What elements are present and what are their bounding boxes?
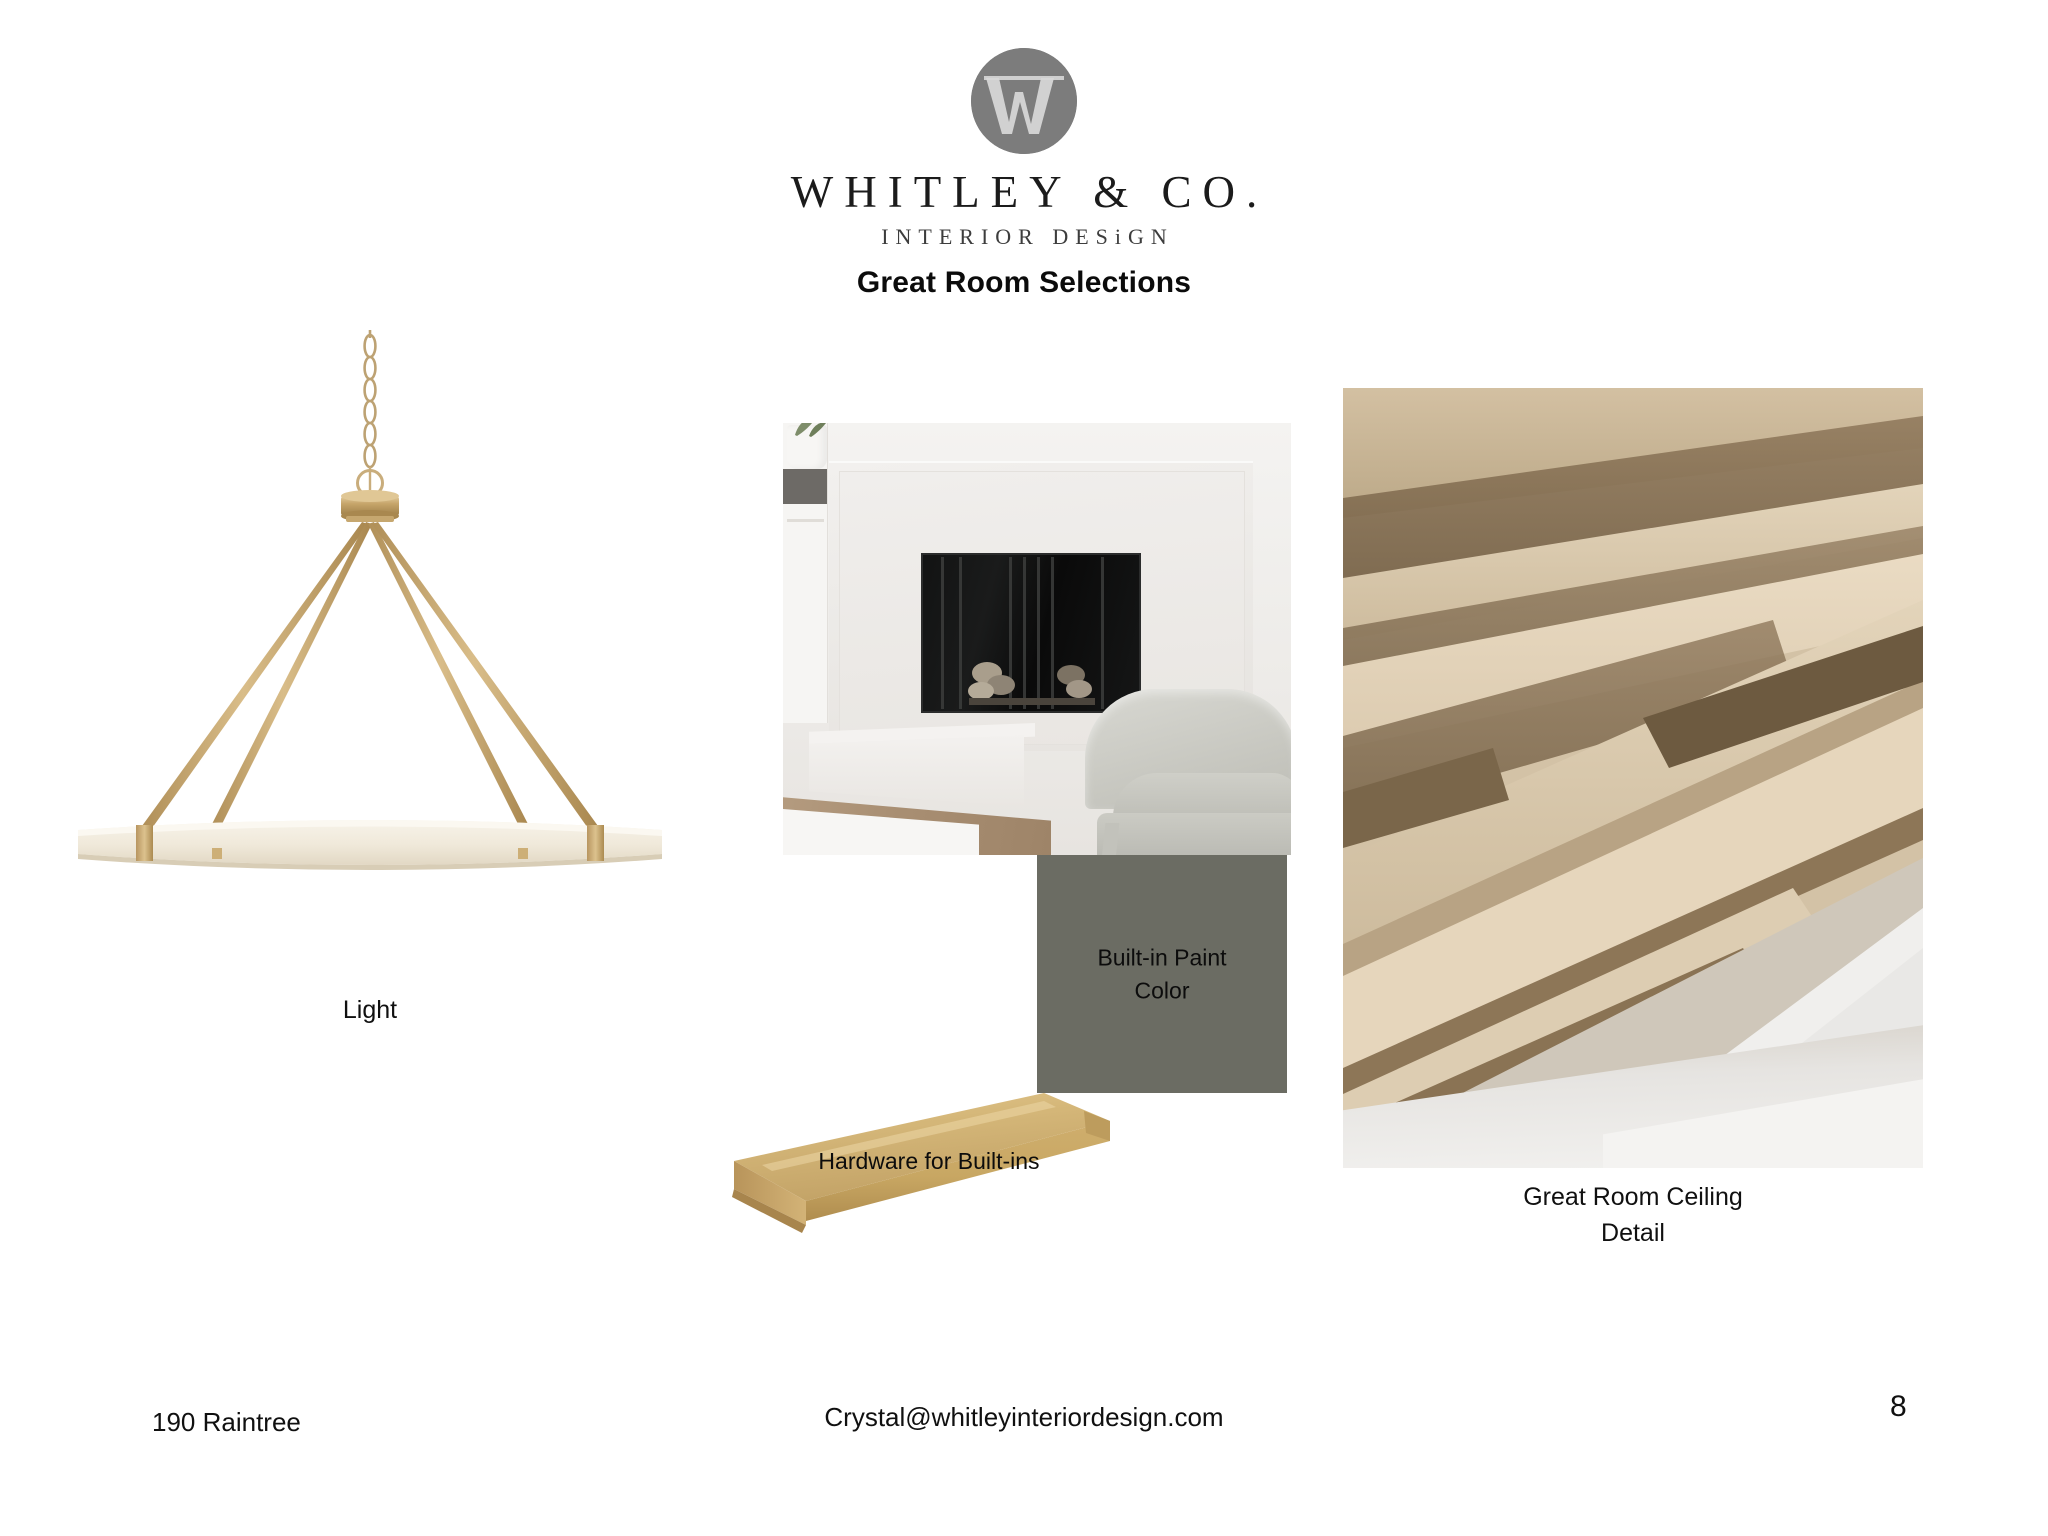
- brand-name: WHITLEY & CO.: [0, 170, 2048, 215]
- brand-header: WHITLEY & CO. INTERIOR DESiGN: [0, 48, 2048, 248]
- built-in-paint-swatch: Built-in Paint Color: [1037, 855, 1287, 1093]
- fireplace-shadow-box: [783, 469, 827, 504]
- accent-chair: [1073, 673, 1291, 855]
- ceiling-caption-line2: Detail: [1343, 1216, 1923, 1252]
- paint-label-line2: Color: [1037, 974, 1287, 1007]
- firebox-bar: [959, 557, 962, 709]
- page-title: Great Room Selections: [0, 266, 2048, 300]
- whitley-logo-icon: [971, 48, 1077, 154]
- chair-seat: [1097, 813, 1291, 855]
- brand-tagline: INTERIOR DESiGN: [0, 226, 2048, 248]
- firebox-bar: [941, 557, 944, 709]
- ceiling-detail-photo: [1343, 388, 1923, 1168]
- chandelier-image: [50, 330, 690, 970]
- footer-email: Crystal@whitleyinteriordesign.com: [0, 1402, 2048, 1433]
- paint-label-line1: Built-in Paint: [1037, 941, 1287, 974]
- fireplace-photo: [783, 423, 1291, 855]
- paint-swatch-label: Built-in Paint Color: [1037, 941, 1287, 1006]
- page-number: 8: [1890, 1390, 1907, 1424]
- light-caption: Light: [50, 996, 690, 1025]
- slide-canvas: WHITLEY & CO. INTERIOR DESiGN Great Room…: [0, 0, 2048, 1536]
- ceiling-caption: Great Room Ceiling Detail: [1343, 1180, 1923, 1251]
- hardware-label: Hardware for Built-ins: [714, 1148, 1144, 1175]
- ceiling-caption-line1: Great Room Ceiling: [1343, 1180, 1923, 1216]
- decor-greenery-icon: [793, 423, 827, 437]
